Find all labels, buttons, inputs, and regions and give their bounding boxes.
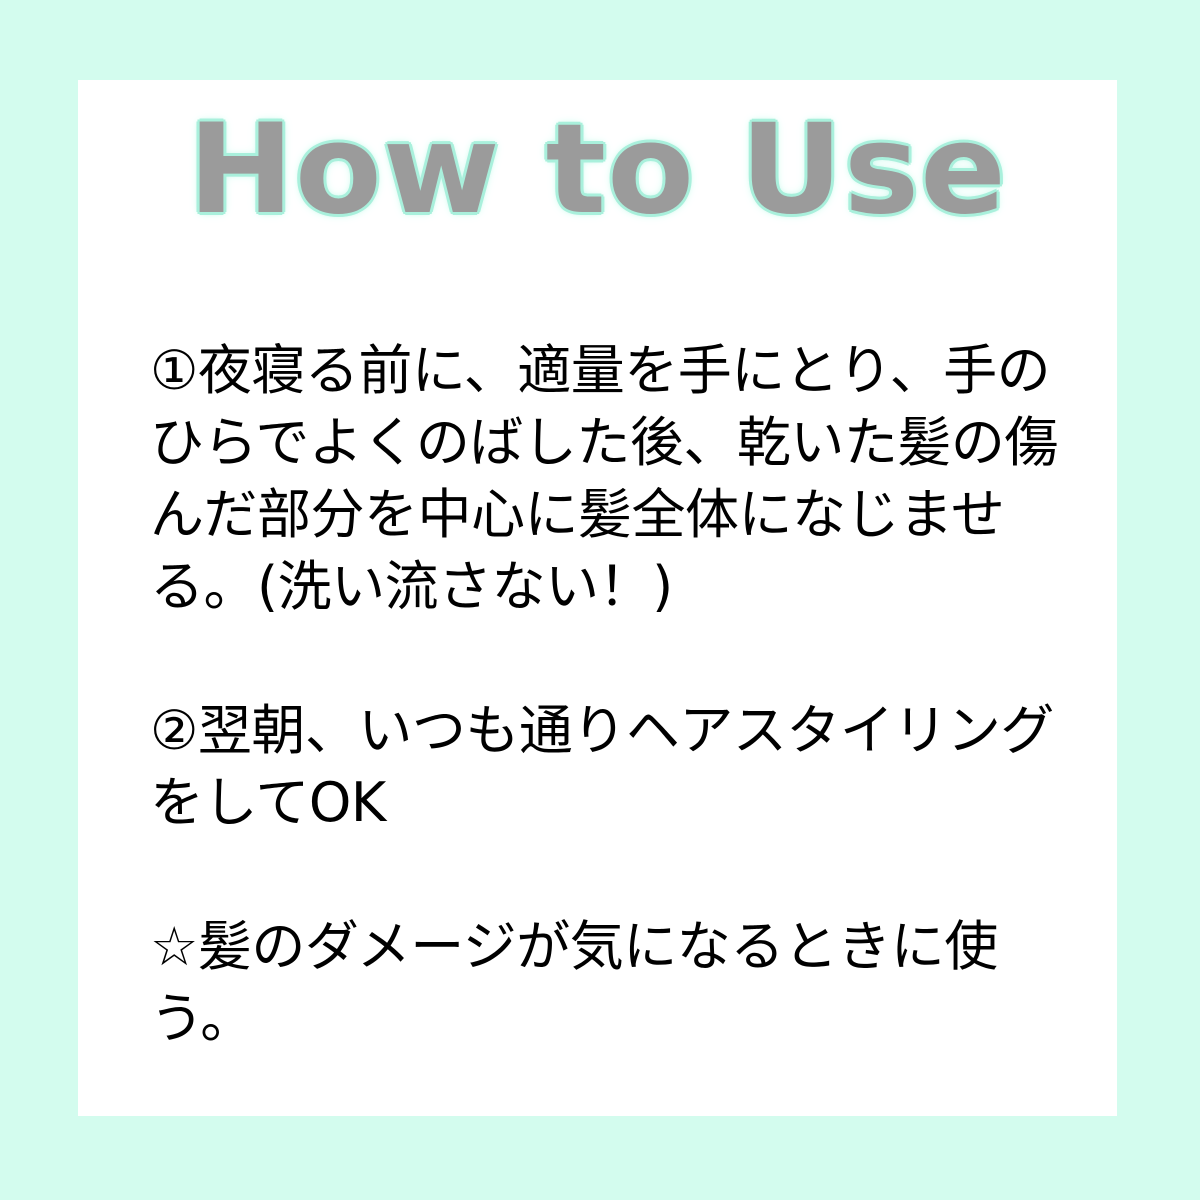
instruction-step-2: ②翌朝、いつも通りヘアスタイリングをしてOK — [150, 695, 1080, 839]
instruction-note: ☆髪のダメージが気になるときに使う。 — [150, 911, 1080, 1055]
content-card: How to Use ①夜寝る前に、適量を手にとり、手のひらでよくのばした後、乾… — [78, 80, 1117, 1116]
paragraph-spacer — [150, 623, 1080, 695]
instructions-list: ①夜寝る前に、適量を手にとり、手のひらでよくのばした後、乾いた髪の傷んだ部分を中… — [150, 335, 1080, 1055]
instruction-step-1: ①夜寝る前に、適量を手にとり、手のひらでよくのばした後、乾いた髪の傷んだ部分を中… — [150, 335, 1080, 623]
paragraph-spacer — [150, 839, 1080, 911]
page-title: How to Use — [188, 108, 1007, 232]
title-block: How to Use — [78, 108, 1117, 232]
poster-canvas: How to Use ①夜寝る前に、適量を手にとり、手のひらでよくのばした後、乾… — [0, 0, 1200, 1200]
